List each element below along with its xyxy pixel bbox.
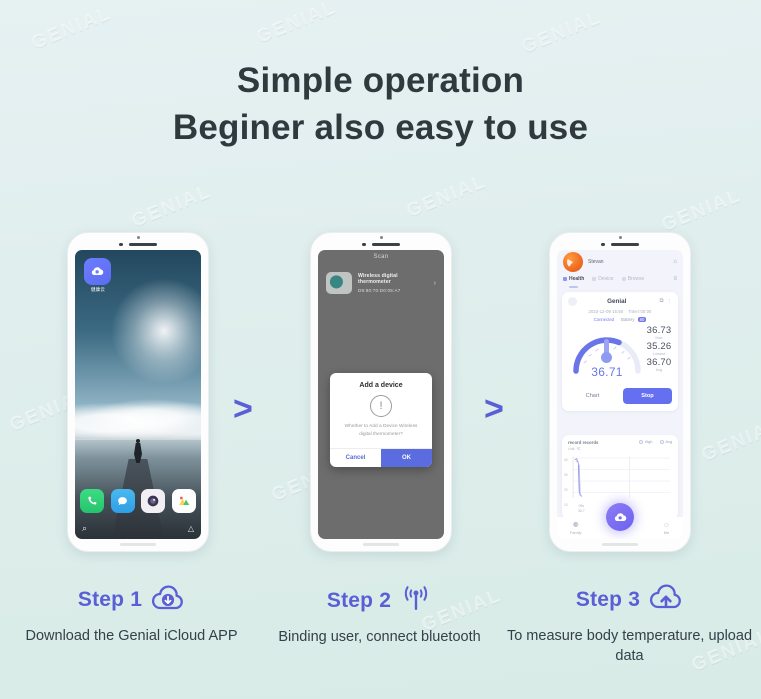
dialog-buttons: Cancel OK: [330, 448, 432, 467]
battery-label: Battery: [621, 317, 634, 322]
chart-legend: High Avg: [639, 440, 672, 444]
y-tick-20: 20: [564, 483, 568, 498]
phone-notch: [550, 241, 690, 248]
current-temperature: 36.71: [568, 365, 646, 379]
tab-device-label: Device: [598, 276, 613, 282]
assistant-icon[interactable]: △: [188, 524, 194, 533]
stat-lowest-label: Lowest: [646, 352, 672, 356]
device-list-item[interactable]: Wireless digital thermometer D9:80:70:D0…: [326, 272, 436, 294]
device-mac-address: D9:80:70:D0:05:A7: [358, 288, 428, 293]
messages-icon[interactable]: [111, 489, 135, 513]
person-body: [134, 443, 142, 463]
notification-bell-icon[interactable]: ⌂: [673, 259, 677, 265]
promo-page: GENIAL GENIAL GENIAL GENIAL GENIAL GENIA…: [0, 0, 761, 699]
camera-icon[interactable]: [141, 489, 165, 513]
stat-avg-label: Avg: [646, 368, 672, 372]
steps-row: Step 1 Download the Genial iCloud APP St…: [0, 584, 761, 694]
chart-plot-area: 40 30 20 10: [566, 455, 672, 501]
chart-x-label-line2: 36.7: [578, 509, 585, 513]
dialog-title: Add a device: [330, 373, 432, 395]
card-header: Genial ⧉ ⋮: [568, 297, 672, 306]
legend-high-label: High: [645, 440, 653, 444]
watermark: GENIAL: [254, 0, 340, 49]
tab-active-underline: [569, 286, 578, 288]
wireless-signal-icon: [400, 584, 432, 617]
earpiece-speaker: [372, 243, 400, 247]
front-camera-icon: [601, 243, 605, 247]
device-title: Genial: [577, 298, 657, 305]
stop-button[interactable]: Stop: [623, 388, 672, 404]
watermark: GENIAL: [659, 185, 745, 237]
device-icon: [592, 277, 596, 281]
stat-list: 36.73 Max 35.26 Lowest 36.70 Avg: [646, 325, 672, 374]
temperature-gauge: 36.71: [568, 325, 646, 377]
chart-title-group: record records Unit: ℃: [568, 440, 598, 451]
user-name: Stevan: [588, 259, 604, 265]
title-line-1: Simple operation: [237, 61, 524, 100]
y-tick-30: 30: [564, 468, 568, 483]
health-icon: [563, 277, 567, 281]
search-icon[interactable]: ⌕: [82, 523, 87, 534]
stat-lowest-value: 35.26: [646, 342, 672, 352]
exclamation-icon: !: [370, 395, 392, 417]
chart-button[interactable]: Chart: [568, 388, 617, 404]
app-header: Stevan ⌂: [563, 252, 677, 272]
person-head: [136, 439, 140, 443]
earpiece-speaker: [611, 243, 639, 247]
phone-notch: [311, 241, 451, 248]
line-chart: [566, 455, 672, 501]
home-indicator: [120, 543, 156, 546]
front-camera-icon: [119, 243, 123, 247]
y-tick-40: 40: [564, 453, 568, 468]
gauge-and-stats: 36.71 36.73 Max 35.26 Lowest 36.70 Avg: [568, 325, 672, 377]
stat-max-label: Max: [646, 336, 672, 340]
step-2-description: Binding user, connect bluetooth: [253, 628, 506, 648]
cancel-button[interactable]: Cancel: [330, 449, 381, 467]
dock: [80, 489, 196, 513]
nav-family[interactable]: ⚈ Family: [570, 522, 581, 535]
app-icon-label: 健康云: [79, 287, 117, 293]
step-2-number: Step 2: [327, 589, 391, 613]
title-line-2: Beginer also easy to use: [0, 105, 761, 152]
add-device-dialog: Add a device ! Whether to Add a Device W…: [330, 373, 432, 467]
cloud-upload-icon: [649, 584, 683, 616]
step-1-number: Step 1: [78, 588, 142, 612]
phone3-screen: Stevan ⌂ Health Device Browse: [557, 250, 683, 539]
arrow-step2-to-step3: >: [484, 392, 504, 426]
y-tick-10: 10: [564, 498, 568, 513]
step-1-header: Step 1: [5, 584, 258, 616]
home-indicator: [363, 543, 399, 546]
measurement-card: Genial ⧉ ⋮ 2023-12-09 15:50 Timer:00:00 …: [562, 292, 678, 411]
step-1: Step 1 Download the Genial iCloud APP: [5, 584, 258, 647]
legend-high-swatch: [639, 440, 643, 444]
step-3-header: Step 3: [503, 584, 756, 616]
step-2-header: Step 2: [253, 584, 506, 617]
proximity-sensor-icon: [380, 236, 383, 239]
chart-header: record records Unit: ℃ High Avg: [568, 440, 672, 451]
tab-device[interactable]: Device: [592, 276, 613, 282]
phone-notch: [68, 241, 208, 248]
tab-health[interactable]: Health: [563, 276, 584, 282]
chevron-right-icon: ›: [434, 280, 436, 287]
watermark: GENIAL: [129, 181, 215, 233]
share-icon[interactable]: ⧉: [660, 298, 664, 305]
genial-icloud-app-icon[interactable]: [84, 258, 111, 285]
watermark: GENIAL: [404, 171, 490, 223]
stat-avg-value: 36.70: [646, 358, 672, 368]
device-meta: Wireless digital thermometer D9:80:70:D0…: [358, 273, 428, 293]
watermark: GENIAL: [29, 3, 115, 55]
battery-value: 80: [638, 317, 647, 322]
chart-x-label: 09s 36.7: [578, 504, 585, 513]
tab-browse[interactable]: Browse: [622, 276, 645, 282]
tab-bar: Health Device Browse ≡: [563, 276, 677, 282]
home-indicator: [602, 543, 638, 546]
stat-max-value: 36.73: [646, 326, 672, 336]
tab-browse-label: Browse: [628, 276, 645, 282]
card-buttons: Chart Stop: [568, 388, 672, 404]
watermark: GENIAL: [519, 7, 605, 59]
step-3-number: Step 3: [576, 588, 640, 612]
cloud-glyph: [89, 263, 106, 280]
chart-unit-label: Unit: ℃: [568, 447, 598, 451]
phone2-screen: Scan Wireless digital thermometer D9:80:…: [318, 250, 444, 539]
nav-me-label: Me: [664, 530, 669, 535]
measurement-datetime: 2023-12-09 15:50: [589, 309, 624, 314]
scan-screen-title: Scan: [318, 254, 444, 260]
cloud-glyph: [612, 509, 629, 526]
phone-mockup-step2: Scan Wireless digital thermometer D9:80:…: [310, 232, 452, 552]
nav-me[interactable]: ☺ Me: [663, 522, 670, 535]
chart-y-axis: 40 30 20 10: [564, 453, 568, 513]
proximity-sensor-icon: [137, 236, 140, 239]
gallery-icon[interactable]: [172, 489, 196, 513]
sun-glow: [109, 276, 201, 386]
page-title: Simple operation Beginer also easy to us…: [0, 58, 761, 151]
phone1-screen: 健康云: [75, 250, 201, 539]
step-3: Step 3 To measure body temperature, uplo…: [503, 584, 756, 666]
status-badge: Connected: [594, 317, 614, 322]
device-name: Wireless digital thermometer: [358, 273, 428, 285]
step-2: Step 2 Binding user, connect blueto: [253, 584, 506, 648]
family-icon: ⚈: [570, 522, 581, 529]
avatar[interactable]: [563, 252, 583, 272]
thermometer-thumbnail-icon: [326, 272, 352, 294]
phone-mockup-step1: 健康云: [67, 232, 209, 552]
menu-icon[interactable]: ≡: [673, 276, 677, 282]
me-icon: ☺: [663, 522, 670, 529]
legend-avg-label: Avg: [666, 440, 672, 444]
measurement-timer: Timer:00:00: [628, 309, 651, 314]
earpiece-speaker: [129, 243, 157, 247]
chart-title: record records: [568, 440, 598, 445]
phone-mockup-step3: Stevan ⌂ Health Device Browse: [549, 232, 691, 552]
phone-row: 健康云: [0, 232, 761, 552]
nav-family-label: Family: [570, 530, 581, 535]
dialog-message: Whether to Add a Device Wireless digital…: [330, 423, 432, 448]
cloud-fab-icon[interactable]: [606, 503, 634, 531]
browse-icon: [622, 277, 626, 281]
clouds: [75, 399, 201, 439]
arrow-step1-to-step2: >: [233, 392, 253, 426]
thermometer-bulb: [601, 352, 612, 363]
tab-health-label: Health: [569, 276, 584, 282]
legend-avg-swatch: [660, 440, 664, 444]
phone-icon[interactable]: [80, 489, 104, 513]
chart-x-label-line1: 09s: [578, 504, 585, 508]
thermometer-icon: [601, 339, 612, 363]
person-silhouette: [134, 439, 142, 463]
ok-button[interactable]: OK: [381, 449, 432, 467]
back-button[interactable]: [568, 297, 577, 306]
more-options-icon[interactable]: ⋮: [667, 299, 673, 305]
legend-avg[interactable]: Avg: [660, 440, 672, 444]
legend-high[interactable]: High: [639, 440, 653, 444]
front-camera-icon: [362, 243, 366, 247]
connection-status-row: Connected Battery 80: [568, 317, 672, 322]
cloud-download-icon: [151, 584, 185, 616]
proximity-sensor-icon: [619, 236, 622, 239]
dock-secondary-row: ⌕ △: [82, 523, 194, 534]
step-3-description: To measure body temperature, upload data: [503, 627, 756, 666]
card-subtitle: 2023-12-09 15:50 Timer:00:00: [568, 309, 672, 314]
step-1-description: Download the Genial iCloud APP: [5, 627, 258, 647]
